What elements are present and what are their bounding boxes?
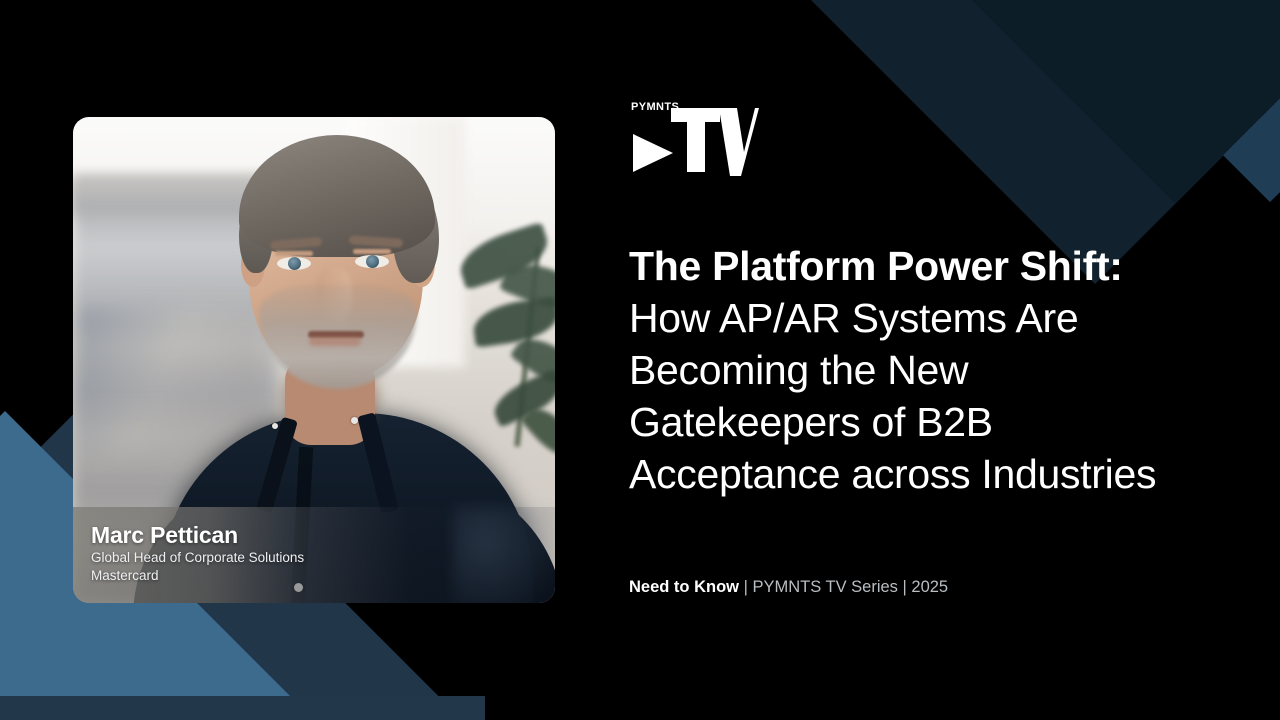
guest-role: Global Head of Corporate Solutions xyxy=(91,549,555,567)
subject-lower-lip xyxy=(309,337,361,346)
series-meta: | PYMNTS TV Series | 2025 xyxy=(739,578,948,596)
shirt-collar-button-right xyxy=(351,417,358,424)
photo-window-mullion-blur xyxy=(77,307,262,457)
letter-t-glyph xyxy=(671,108,720,172)
guest-photo-card: Marc Pettican Global Head of Corporate S… xyxy=(73,117,555,603)
subject-eye-right xyxy=(355,255,389,268)
subject-eyelid-right xyxy=(353,249,391,254)
series-footer: Need to Know | PYMNTS TV Series | 2025 xyxy=(629,578,948,598)
subject-eye-left xyxy=(277,257,311,270)
subject-eyelid-left xyxy=(275,251,313,256)
page-title: The Platform Power Shift: How AP/AR Syst… xyxy=(629,240,1165,500)
tv-logo-mark xyxy=(629,100,759,176)
play-triangle-icon xyxy=(633,134,673,172)
content-column: PYMNTS The Platform Power Shift: How AP/… xyxy=(629,0,1189,720)
letter-v-glyph xyxy=(719,108,759,176)
series-name: Need to Know xyxy=(629,578,739,596)
pymnts-tv-logo: PYMNTS xyxy=(629,100,759,176)
guest-name-plate: Marc Pettican Global Head of Corporate S… xyxy=(73,507,555,603)
page-title-lead: The Platform Power Shift: xyxy=(629,243,1123,289)
subject-iris-right xyxy=(366,255,379,268)
guest-name: Marc Pettican xyxy=(91,523,555,548)
subject-iris-left xyxy=(288,257,301,270)
page-title-rest: How AP/AR Systems Are Becoming the New G… xyxy=(629,295,1156,497)
pymnts-tv-title-card: Marc Pettican Global Head of Corporate S… xyxy=(0,0,1280,720)
guest-organization: Mastercard xyxy=(91,567,555,585)
shirt-collar-button-left xyxy=(272,423,278,429)
